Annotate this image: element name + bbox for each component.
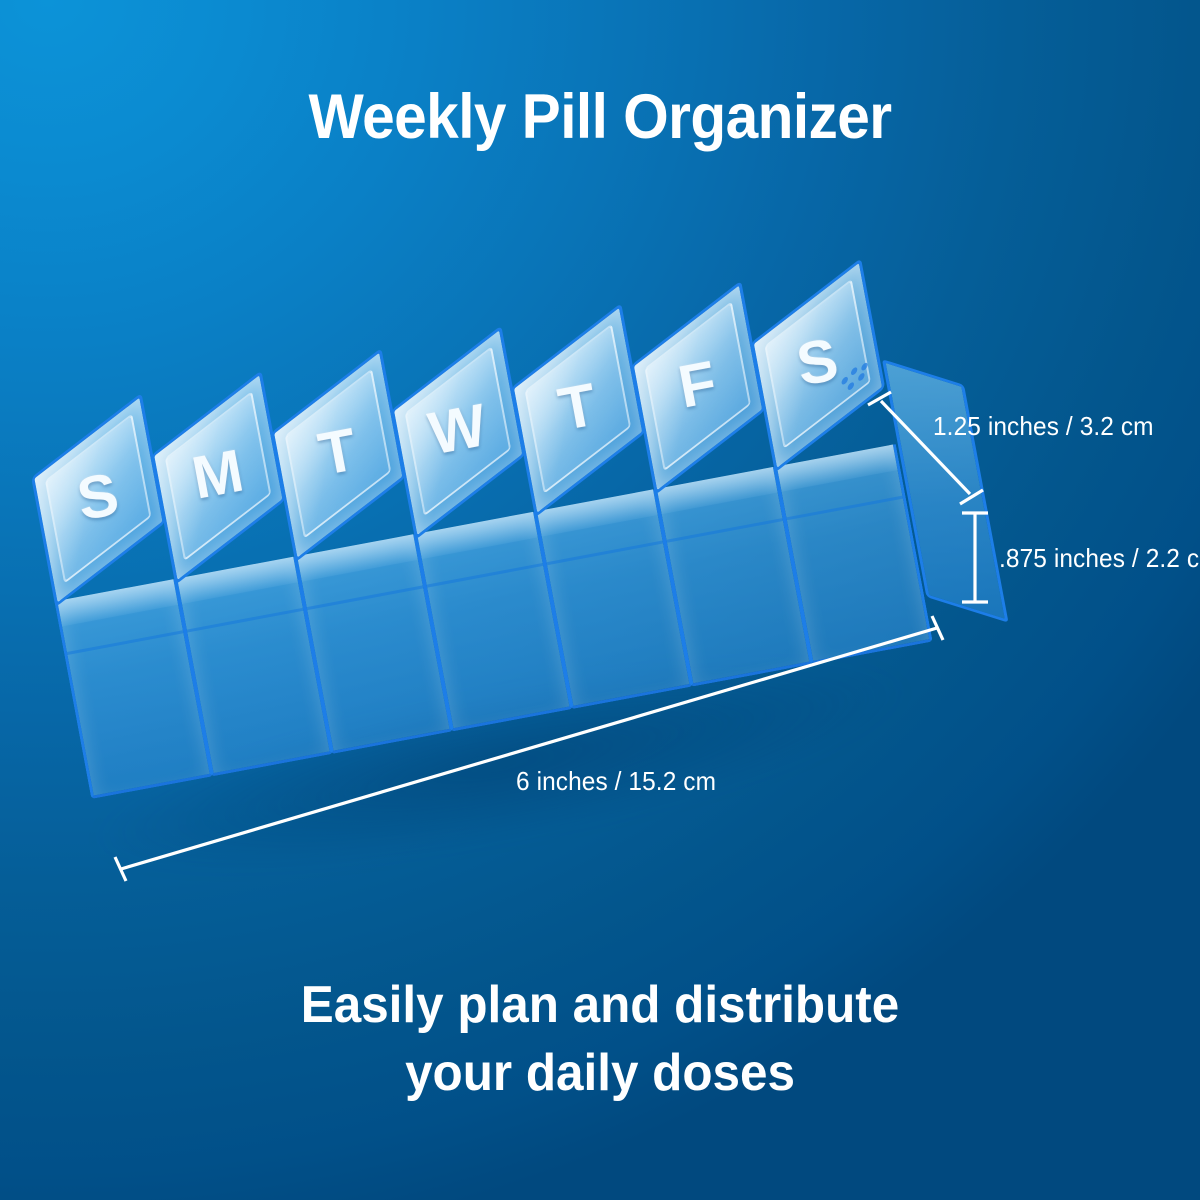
depth-tick-start bbox=[868, 392, 891, 405]
depth-tick-end bbox=[960, 490, 983, 504]
height-dimension-label: .875 inches / 2.2 cm bbox=[999, 543, 1200, 574]
product-infographic: Weekly Pill Organizer S bbox=[0, 0, 1200, 1200]
length-dimension-line bbox=[121, 628, 937, 869]
length-dimension-label: 6 inches / 15.2 cm bbox=[516, 766, 716, 797]
depth-dimension-label: 1.25 inches / 3.2 cm bbox=[933, 411, 1154, 442]
product-caption: Easily plan and distribute your daily do… bbox=[30, 972, 1170, 1107]
caption-line-2: your daily doses bbox=[30, 1040, 1170, 1108]
caption-line-1: Easily plan and distribute bbox=[30, 972, 1170, 1040]
